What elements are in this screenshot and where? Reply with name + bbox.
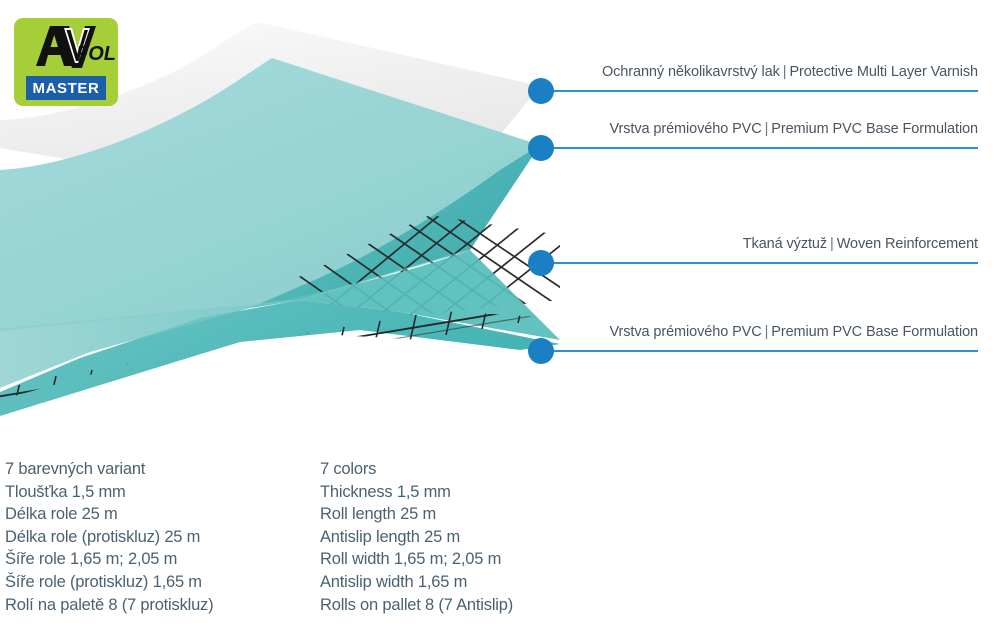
callout-varnish: Ochranný několikavrstvý lak|Protective M… — [0, 78, 999, 104]
callout-varnish-rule — [548, 90, 978, 92]
callout-varnish-cs: Ochranný několikavrstvý lak — [602, 64, 780, 80]
product-layer-diagram: FOL MASTER Ochranný několikavrstvý lak|P… — [0, 0, 999, 624]
callout-pvc-bottom: Vrstva prémiového PVC|Premium PVC Base F… — [0, 338, 999, 364]
callout-pvc-bottom-rule — [548, 350, 978, 352]
spec-cs-rolls-pallet: Rolí na paletě 8 (7 protiskluz) — [5, 594, 213, 617]
spec-cs-antislip-width: Šíře role (protiskluz) 1,65 m — [5, 571, 213, 594]
callout-reinforcement-en: Woven Reinforcement — [837, 236, 978, 252]
spec-en-roll-width: Roll width 1,65 m; 2,05 m — [320, 548, 513, 571]
spec-en-colors: 7 colors — [320, 458, 513, 481]
callout-pvc-top: Vrstva prémiového PVC|Premium PVC Base F… — [0, 135, 999, 161]
callout-pvc-top-en: Premium PVC Base Formulation — [771, 121, 978, 137]
callout-pvc-bottom-dot[interactable] — [528, 338, 554, 364]
callout-reinforcement-separator: | — [827, 236, 837, 252]
callout-reinforcement-dot[interactable] — [528, 250, 554, 276]
spec-cs-roll-width: Šíře role 1,65 m; 2,05 m — [5, 548, 213, 571]
callout-pvc-bottom-label: Vrstva prémiového PVC|Premium PVC Base F… — [548, 324, 978, 340]
svg-text:FOL: FOL — [76, 43, 116, 65]
specifications: 7 barevných variant Tloušťka 1,5 mm Délk… — [0, 458, 999, 624]
spec-en-antislip-width: Antislip width 1,65 m — [320, 571, 513, 594]
spec-cs-antislip-length: Délka role (protiskluz) 25 m — [5, 526, 213, 549]
callout-varnish-dot[interactable] — [528, 78, 554, 104]
callout-pvc-top-rule — [548, 147, 978, 149]
spec-en-thickness: Thickness 1,5 mm — [320, 481, 513, 504]
specs-english-column: 7 colors Thickness 1,5 mm Roll length 25… — [320, 458, 513, 616]
callout-pvc-bottom-separator: | — [762, 324, 772, 340]
callout-varnish-label: Ochranný několikavrstvý lak|Protective M… — [548, 64, 978, 80]
specs-czech-column: 7 barevných variant Tloušťka 1,5 mm Délk… — [5, 458, 213, 616]
spec-en-roll-length: Roll length 25 m — [320, 503, 513, 526]
spec-en-rolls-pallet: Rolls on pallet 8 (7 Antislip) — [320, 594, 513, 617]
callout-reinforcement: Tkaná výztuž|Woven Reinforcement — [0, 250, 999, 276]
callout-pvc-top-cs: Vrstva prémiového PVC — [610, 121, 762, 137]
callout-pvc-bottom-en: Premium PVC Base Formulation — [771, 324, 978, 340]
spec-en-antislip-length: Antislip length 25 m — [320, 526, 513, 549]
spec-cs-thickness: Tloušťka 1,5 mm — [5, 481, 213, 504]
callout-pvc-top-separator: | — [762, 121, 772, 137]
avfol-wordmark: FOL — [14, 20, 118, 72]
callout-reinforcement-rule — [548, 262, 978, 264]
callout-pvc-top-dot[interactable] — [528, 135, 554, 161]
callout-varnish-en: Protective Multi Layer Varnish — [789, 64, 978, 80]
spec-cs-roll-length: Délka role 25 m — [5, 503, 213, 526]
callout-pvc-bottom-cs: Vrstva prémiového PVC — [610, 324, 762, 340]
callout-pvc-top-label: Vrstva prémiového PVC|Premium PVC Base F… — [548, 121, 978, 137]
callout-reinforcement-label: Tkaná výztuž|Woven Reinforcement — [548, 236, 978, 252]
callout-reinforcement-cs: Tkaná výztuž — [743, 236, 827, 252]
spec-cs-colors: 7 barevných variant — [5, 458, 213, 481]
